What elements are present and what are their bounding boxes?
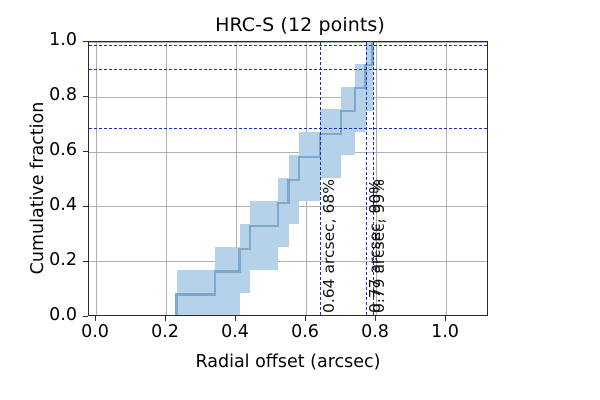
reference-line-horizontal-68 [89,128,487,129]
x-tick-label: 0.0 [65,322,125,342]
y-tick-mark [83,316,88,317]
step-curve-riser [175,293,177,315]
step-curve-segment [177,293,216,295]
x-tick-mark [445,316,446,321]
x-tick-mark [165,316,166,321]
confidence-band-segment [250,201,278,270]
x-tick-label: 0.8 [345,322,405,342]
gridline-horizontal [89,152,487,153]
step-curve-riser [214,270,216,295]
step-curve-riser [249,225,251,250]
x-axis-label: Radial offset (arcsec) [88,352,488,372]
step-curve-segment [299,156,320,158]
reference-line-horizontal-90 [89,69,487,70]
step-curve-segment [320,133,341,135]
step-curve-segment [250,225,278,227]
step-curve-riser [354,87,356,112]
x-tick-label: 0.2 [135,322,195,342]
confidence-band-segment [299,132,320,201]
x-tick-mark [95,316,96,321]
confidence-band-segment [215,247,240,315]
gridline-horizontal [89,261,487,262]
step-curve-riser [287,179,289,204]
step-curve-segment [215,270,240,272]
chart-title: HRC-S (12 points) [0,14,600,36]
y-axis-label: Cumulative fraction [28,88,48,288]
x-tick-label: 0.4 [205,322,265,342]
x-tick-mark [305,316,306,321]
gridline-vertical [96,42,97,315]
gridline-horizontal [89,42,487,43]
step-curve-riser [298,156,300,181]
reference-line-horizontal-99 [89,45,487,46]
gridline-vertical [166,42,167,315]
gridline-horizontal [89,97,487,98]
step-curve-riser [277,202,279,227]
x-tick-mark [375,316,376,321]
confidence-band-segment [320,109,341,178]
x-tick-label: 1.0 [415,322,475,342]
annotation-99: 0.79 arcsec, 99% [370,179,388,313]
plot-area: 0.64 arcsec, 68% 0.77 arcsec, 90% 0.79 a… [89,42,487,315]
chart-figure: HRC-S (12 points) 0.0 0.2 0.4 0.6 0.8 1.… [0,0,600,400]
plot-axes: 0.64 arcsec, 68% 0.77 arcsec, 90% 0.79 a… [88,41,488,316]
y-tick-label: 1.0 [0,30,77,50]
step-curve-riser [340,110,342,135]
step-curve-riser [238,248,240,273]
x-tick-label: 0.6 [275,322,335,342]
gridline-vertical [446,42,447,315]
annotation-68: 0.64 arcsec, 68% [320,179,338,313]
x-tick-mark [235,316,236,321]
